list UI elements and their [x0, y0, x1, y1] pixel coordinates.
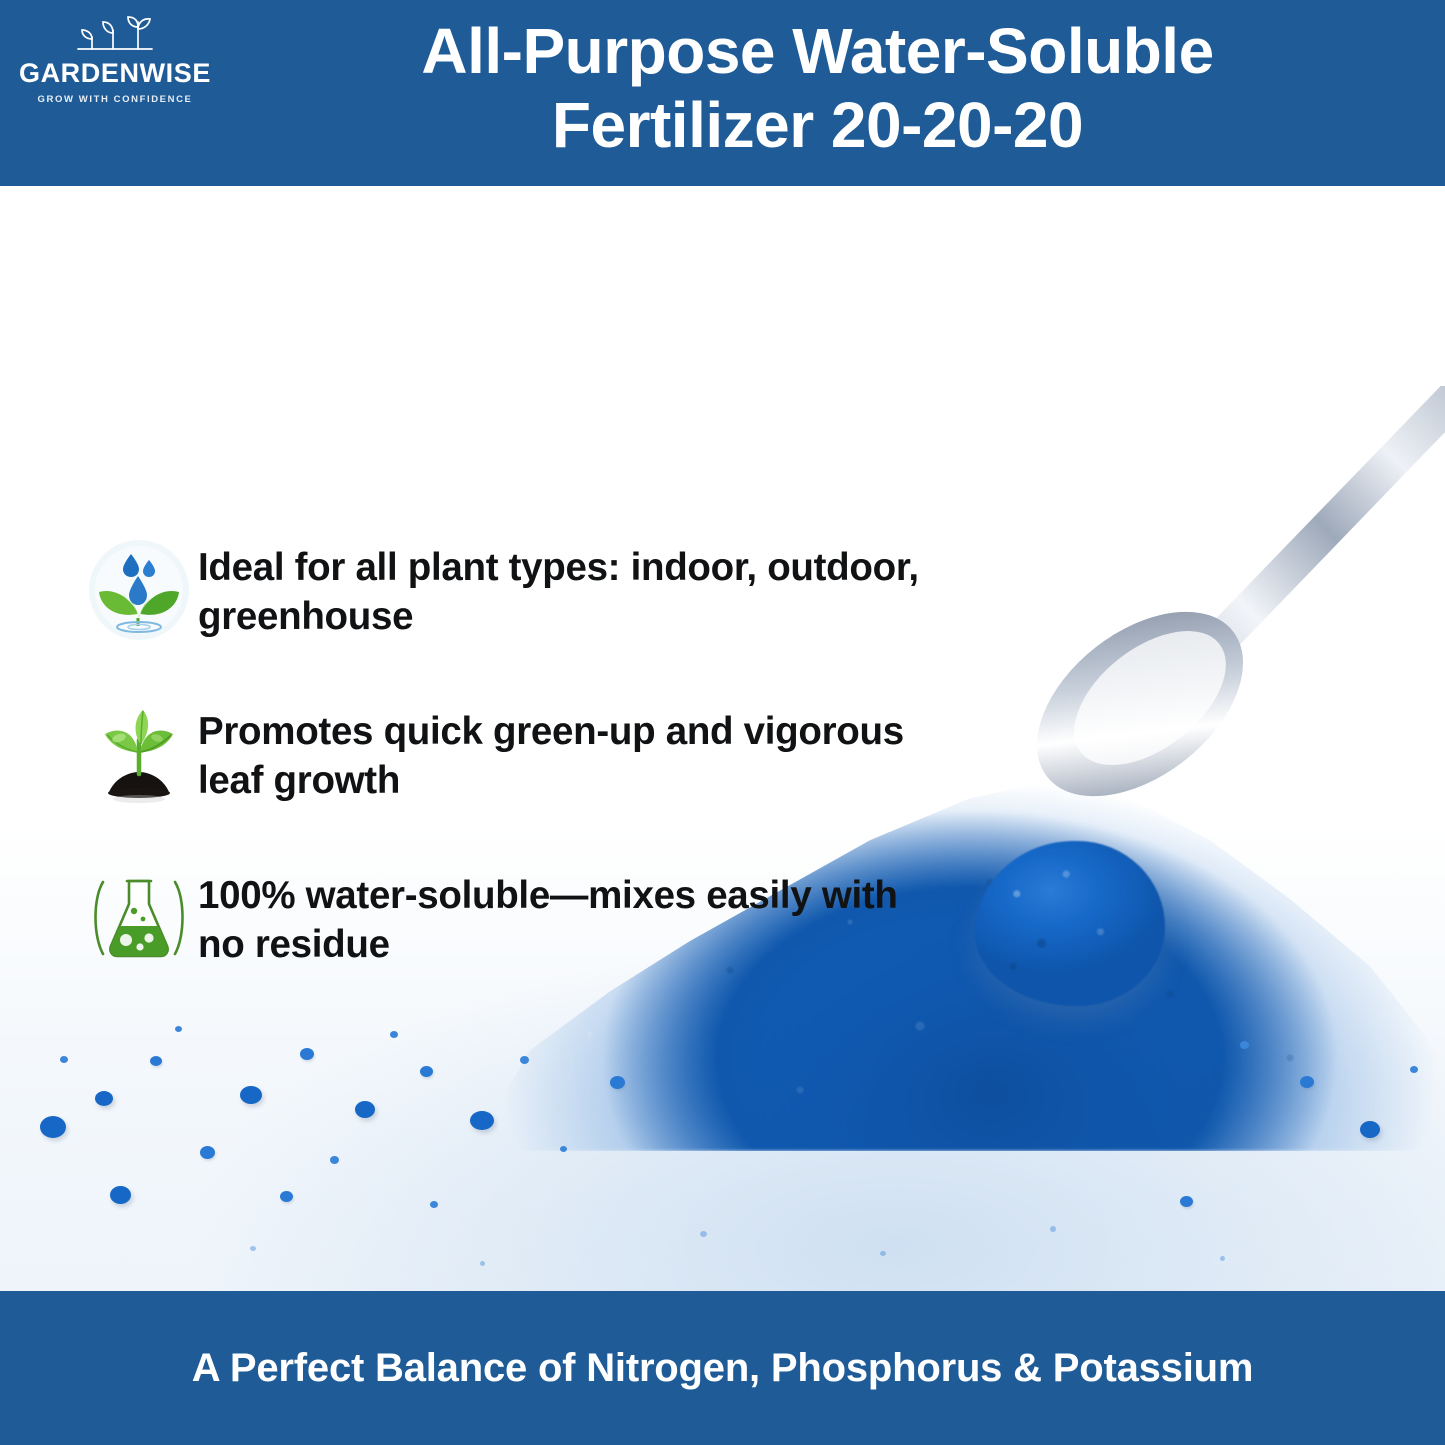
powder-granule — [240, 1086, 262, 1104]
powder-granule — [560, 1146, 567, 1152]
powder-granule — [150, 1056, 162, 1066]
powder-granule — [420, 1066, 433, 1077]
powder-dust — [480, 1261, 485, 1266]
leaf-water-drop-icon — [80, 534, 198, 646]
brand-name: GARDENWISE — [19, 60, 211, 87]
powder-granule — [95, 1091, 113, 1106]
brand-logo: GARDENWISE GROW WITH CONFIDENCE — [0, 0, 230, 105]
powder-dust — [1050, 1226, 1056, 1232]
powder-granule — [330, 1156, 339, 1164]
powder-granule — [1300, 1076, 1314, 1088]
footer-banner: A Perfect Balance of Nitrogen, Phosphoru… — [0, 1291, 1445, 1445]
feature-list: Ideal for all plant types: indoor, outdo… — [80, 534, 950, 974]
product-infographic: GARDENWISE GROW WITH CONFIDENCE All-Purp… — [0, 0, 1445, 1445]
powder-dust — [700, 1231, 707, 1237]
powder-granule — [200, 1146, 215, 1159]
sprout-leaves-icon — [60, 12, 170, 58]
feature-item: Ideal for all plant types: indoor, outdo… — [80, 534, 950, 646]
footer-text: A Perfect Balance of Nitrogen, Phosphoru… — [192, 1346, 1253, 1391]
powder-granule — [60, 1056, 68, 1063]
powder-granule — [1180, 1196, 1193, 1207]
powder-granule — [1360, 1121, 1380, 1138]
powder-granule — [610, 1076, 625, 1089]
powder-granule — [1240, 1041, 1249, 1049]
powder-granule — [430, 1201, 438, 1208]
powder-granule — [390, 1031, 398, 1038]
powder-dust — [880, 1251, 886, 1256]
powder-granule — [470, 1111, 494, 1130]
page-title: All-Purpose Water-Soluble Fertilizer 20-… — [230, 0, 1445, 162]
feature-text: Promotes quick green-up and vigorous lea… — [198, 698, 950, 806]
seedling-soil-icon — [80, 698, 198, 810]
header-banner: GARDENWISE GROW WITH CONFIDENCE All-Purp… — [0, 0, 1445, 186]
feature-text: 100% water-soluble—mixes easily with no … — [198, 862, 950, 970]
brand-tagline: GROW WITH CONFIDENCE — [38, 94, 193, 105]
title-line-1: All-Purpose Water-Soluble — [230, 14, 1405, 88]
powder-granule — [1410, 1066, 1418, 1073]
feature-item: 100% water-soluble—mixes easily with no … — [80, 862, 950, 974]
powder-granule — [300, 1048, 314, 1060]
powder-granule — [175, 1026, 182, 1032]
flask-icon — [80, 862, 198, 974]
powder-granule — [110, 1186, 131, 1204]
powder-dust — [250, 1246, 256, 1251]
product-photo: Ideal for all plant types: indoor, outdo… — [0, 186, 1445, 1291]
feature-text: Ideal for all plant types: indoor, outdo… — [198, 534, 950, 642]
powder-granule — [520, 1056, 529, 1064]
title-line-2: Fertilizer 20-20-20 — [230, 88, 1405, 162]
powder-granule — [355, 1101, 375, 1118]
powder-granule — [40, 1116, 66, 1138]
spoon-icon — [900, 386, 1445, 886]
feature-item: Promotes quick green-up and vigorous lea… — [80, 698, 950, 810]
powder-granule — [280, 1191, 293, 1202]
spoon-with-powder — [900, 386, 1445, 886]
powder-dust — [1220, 1256, 1225, 1261]
